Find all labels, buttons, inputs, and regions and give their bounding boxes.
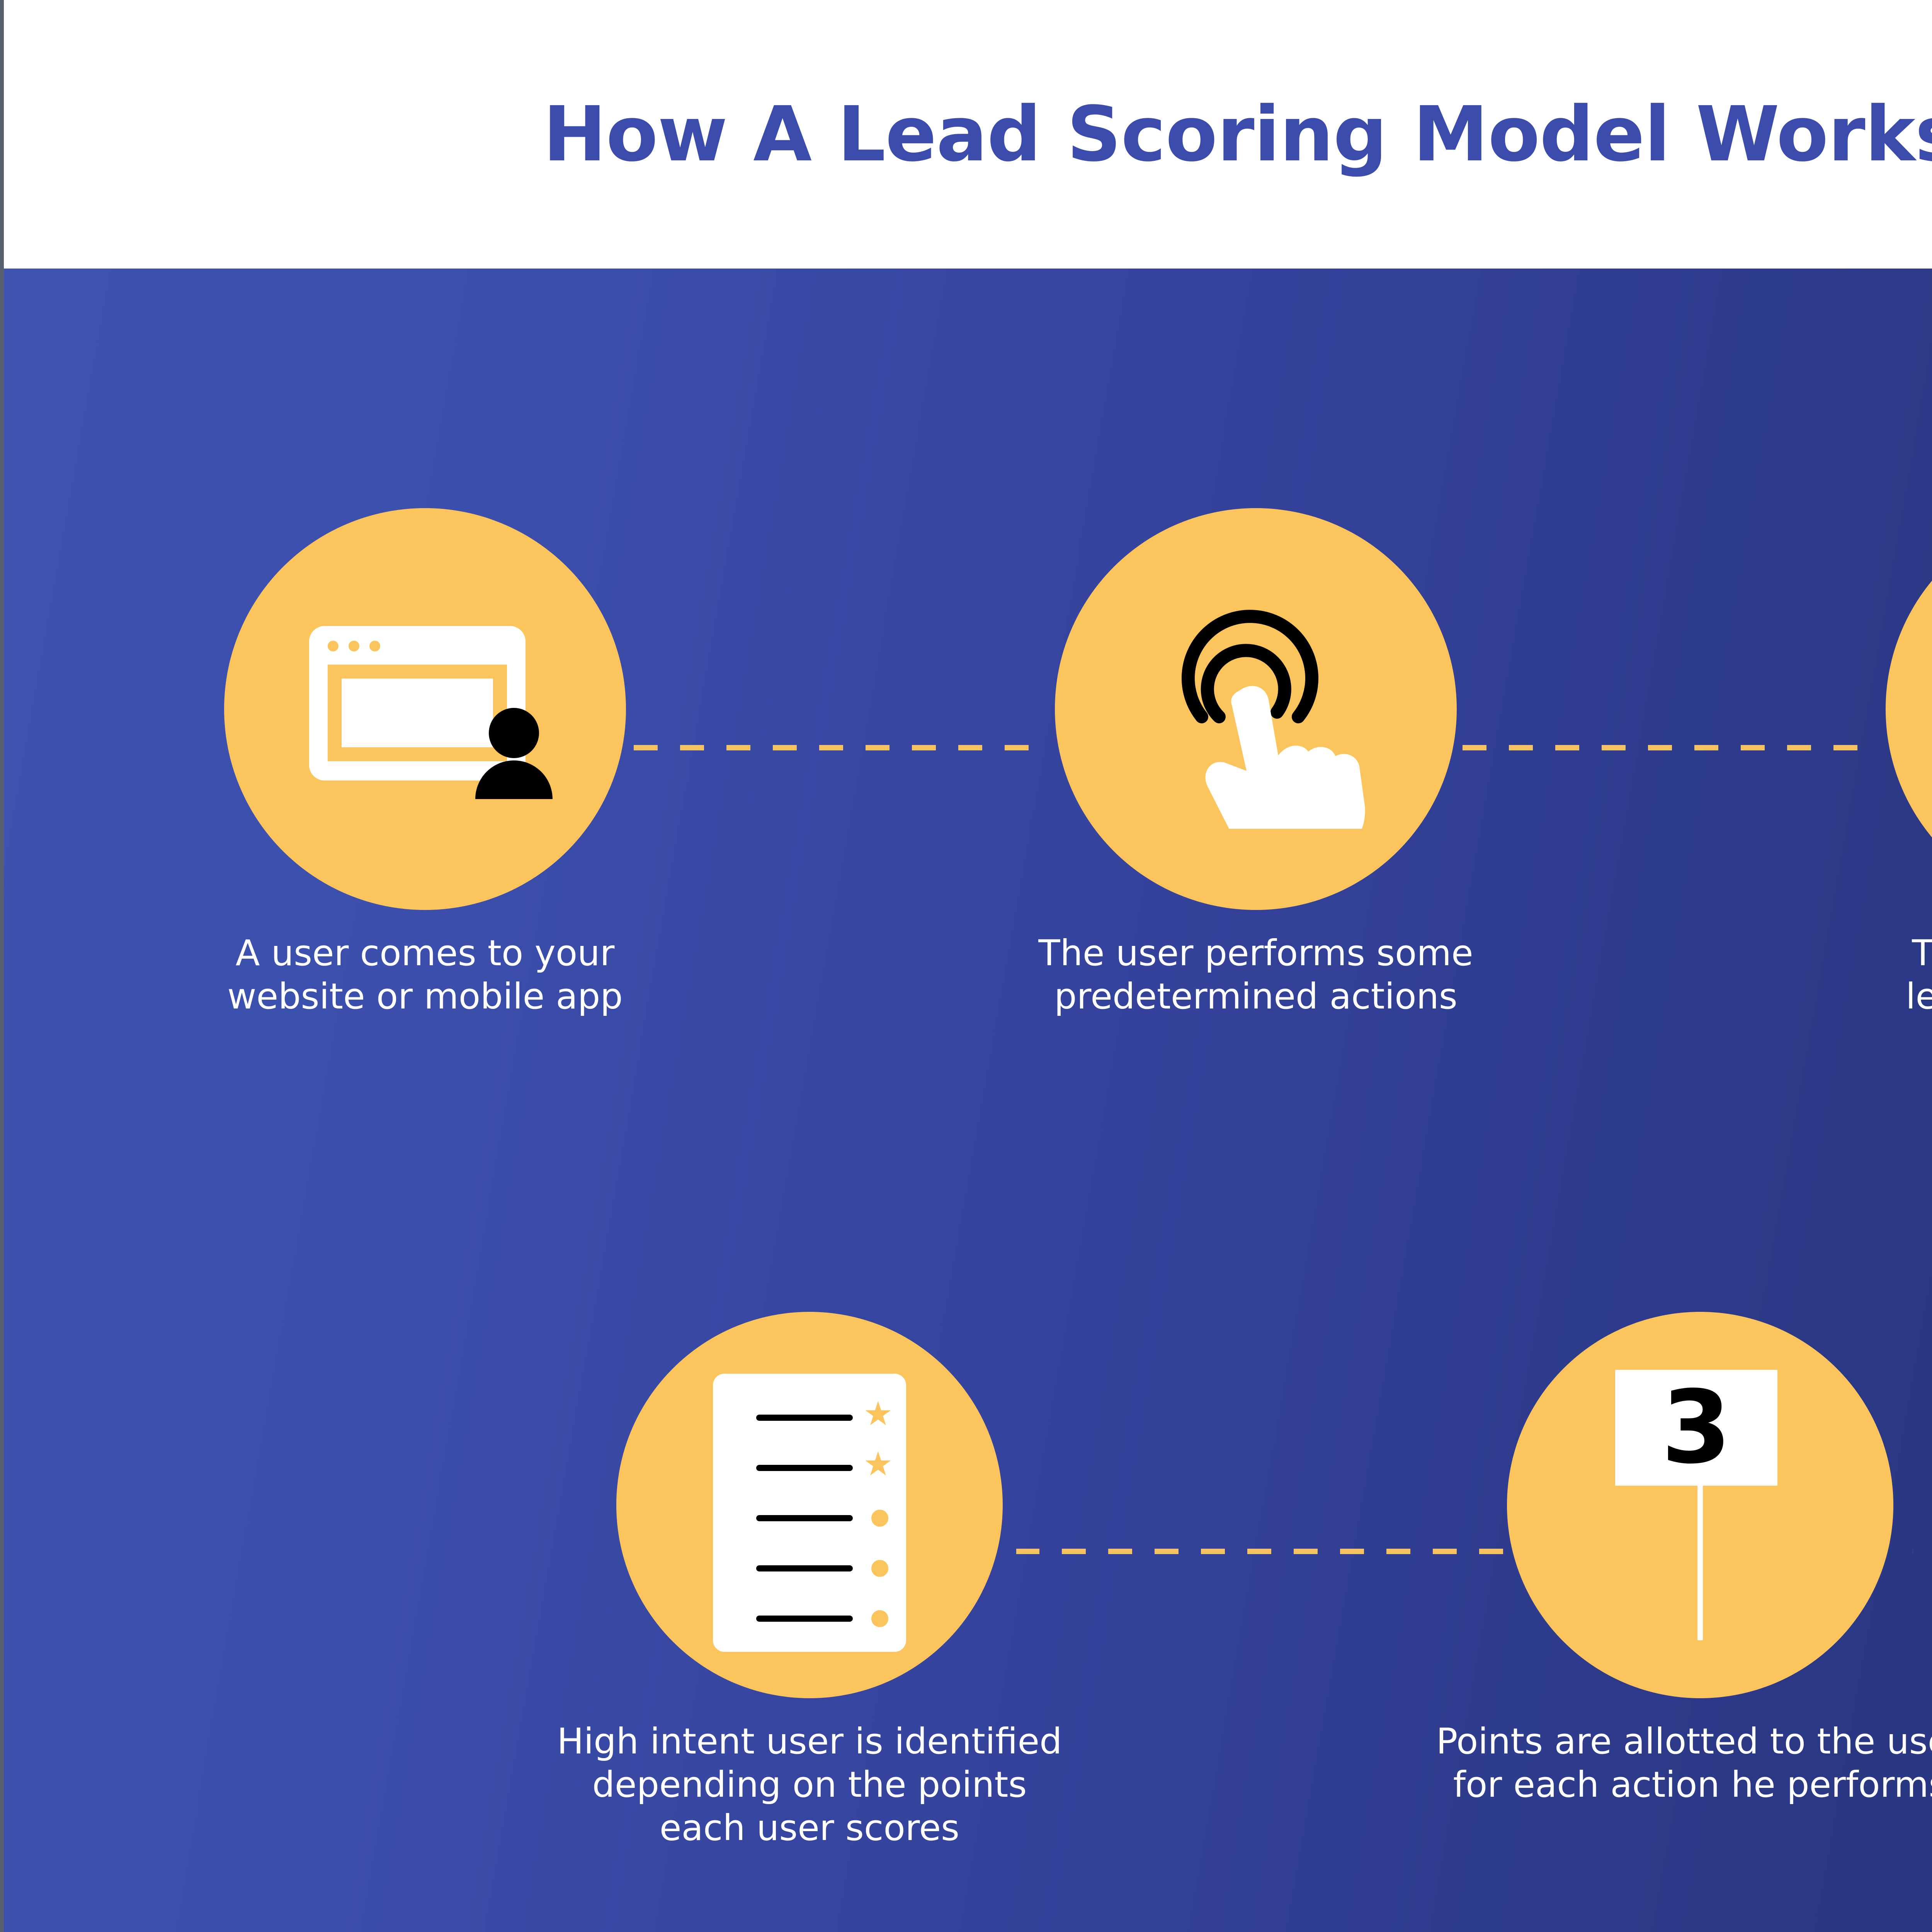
dot-icon (871, 1610, 888, 1627)
person-avatar-icon (724, 1499, 748, 1531)
scored-user-list-icon: ★ ★ (713, 1374, 906, 1652)
step-1-caption: A user comes to your website or mobile a… (97, 932, 753, 1018)
list-item (724, 1598, 895, 1640)
step-5-circle: 3 (1507, 1312, 1893, 1698)
step-4[interactable]: ★ ★ (481, 1312, 1138, 1850)
person-avatar-icon (475, 708, 553, 799)
step-3-caption: The user enters the lead scoring journey (1758, 932, 1932, 1018)
browser-user-icon (309, 626, 541, 792)
sign-number: 3 (1662, 1378, 1731, 1478)
dot-icon (871, 1560, 888, 1577)
list-line (756, 1565, 853, 1571)
tap-gesture-icon (1136, 589, 1376, 829)
list-line (756, 1465, 853, 1471)
step-2[interactable]: The user performs some predetermined act… (927, 508, 1584, 1018)
list-item (724, 1548, 895, 1590)
list-line (756, 1415, 853, 1421)
star-icon: ★ (863, 1403, 893, 1425)
person-avatar-icon (724, 1449, 748, 1481)
sign-pole (1697, 1478, 1703, 1640)
step-5[interactable]: 3 Points are allotted to the user for ea… (1372, 1312, 1932, 1806)
browser-dots-icon (328, 641, 380, 651)
list-line (756, 1616, 853, 1622)
step-3-circle (1886, 508, 1932, 910)
step-1[interactable]: A user comes to your website or mobile a… (97, 508, 753, 1018)
diagram-body: A user comes to your website or mobile a… (4, 269, 1932, 1932)
step-1-circle (224, 508, 626, 910)
star-icon: ★ (863, 1453, 893, 1475)
person-avatar-icon (724, 1549, 748, 1582)
list-item: ★ (724, 1447, 895, 1490)
step-4-caption: High intent user is identified depending… (481, 1720, 1138, 1850)
dot-icon (871, 1510, 888, 1527)
step-5-caption: Points are allotted to the user for each… (1372, 1720, 1932, 1806)
step-2-circle (1055, 508, 1457, 910)
step-4-circle: ★ ★ (616, 1312, 1003, 1698)
list-item (724, 1497, 895, 1540)
header-band: How A Lead Scoring Model Works (4, 0, 1932, 269)
points-sign-icon: 3 (1615, 1370, 1785, 1640)
person-avatar-icon (724, 1398, 748, 1431)
infographic-canvas: How A Lead Scoring Model Works (0, 0, 1932, 1932)
list-item: ★ (724, 1397, 895, 1439)
page-title: How A Lead Scoring Model Works (543, 97, 1932, 172)
person-avatar-icon (724, 1599, 748, 1632)
step-2-caption: The user performs some predetermined act… (927, 932, 1584, 1018)
step-3[interactable]: The user enters the lead scoring journey (1758, 508, 1932, 1018)
sign-board: 3 (1615, 1370, 1777, 1486)
list-line (756, 1515, 853, 1521)
